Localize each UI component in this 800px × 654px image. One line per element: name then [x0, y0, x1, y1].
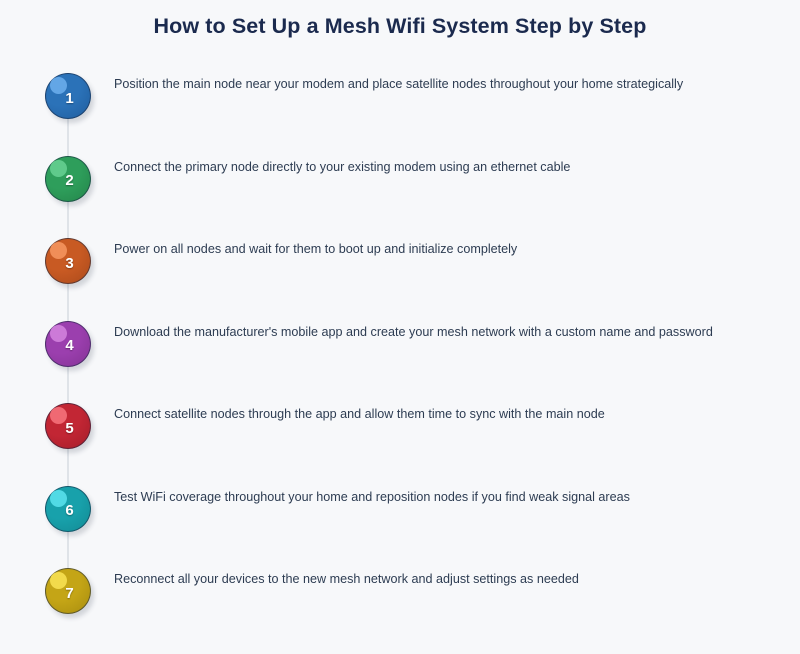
- step-item: 4Download the manufacturer's mobile app …: [0, 310, 800, 393]
- step-item: 7Reconnect all your devices to the new m…: [0, 557, 800, 640]
- infographic-canvas: How to Set Up a Mesh Wifi System Step by…: [0, 0, 800, 654]
- step-description: Reconnect all your devices to the new me…: [114, 569, 764, 590]
- step-description: Position the main node near your modem a…: [114, 74, 764, 95]
- step-item: 3Power on all nodes and wait for them to…: [0, 227, 800, 310]
- step-number-label: 3: [45, 238, 91, 284]
- step-number-badge[interactable]: 1: [45, 73, 91, 119]
- step-number-badge[interactable]: 3: [45, 238, 91, 284]
- step-number-label: 2: [45, 156, 91, 202]
- step-number-badge[interactable]: 7: [45, 568, 91, 614]
- step-number-badge[interactable]: 5: [45, 403, 91, 449]
- step-number-label: 5: [45, 403, 91, 449]
- step-number-label: 1: [45, 73, 91, 119]
- step-list: 1Position the main node near your modem …: [0, 62, 800, 640]
- step-description: Connect satellite nodes through the app …: [114, 404, 764, 425]
- step-number-badge[interactable]: 6: [45, 486, 91, 532]
- step-number-label: 4: [45, 321, 91, 367]
- step-item: 6Test WiFi coverage throughout your home…: [0, 475, 800, 558]
- step-item: 1Position the main node near your modem …: [0, 62, 800, 145]
- step-description: Connect the primary node directly to you…: [114, 157, 764, 178]
- step-item: 2Connect the primary node directly to yo…: [0, 145, 800, 228]
- step-description: Test WiFi coverage throughout your home …: [114, 487, 764, 508]
- step-number-label: 7: [45, 568, 91, 614]
- step-number-badge[interactable]: 2: [45, 156, 91, 202]
- step-description: Download the manufacturer's mobile app a…: [114, 322, 764, 343]
- page-title: How to Set Up a Mesh Wifi System Step by…: [0, 14, 800, 39]
- step-number-label: 6: [45, 486, 91, 532]
- step-description: Power on all nodes and wait for them to …: [114, 239, 764, 260]
- step-item: 5Connect satellite nodes through the app…: [0, 392, 800, 475]
- step-number-badge[interactable]: 4: [45, 321, 91, 367]
